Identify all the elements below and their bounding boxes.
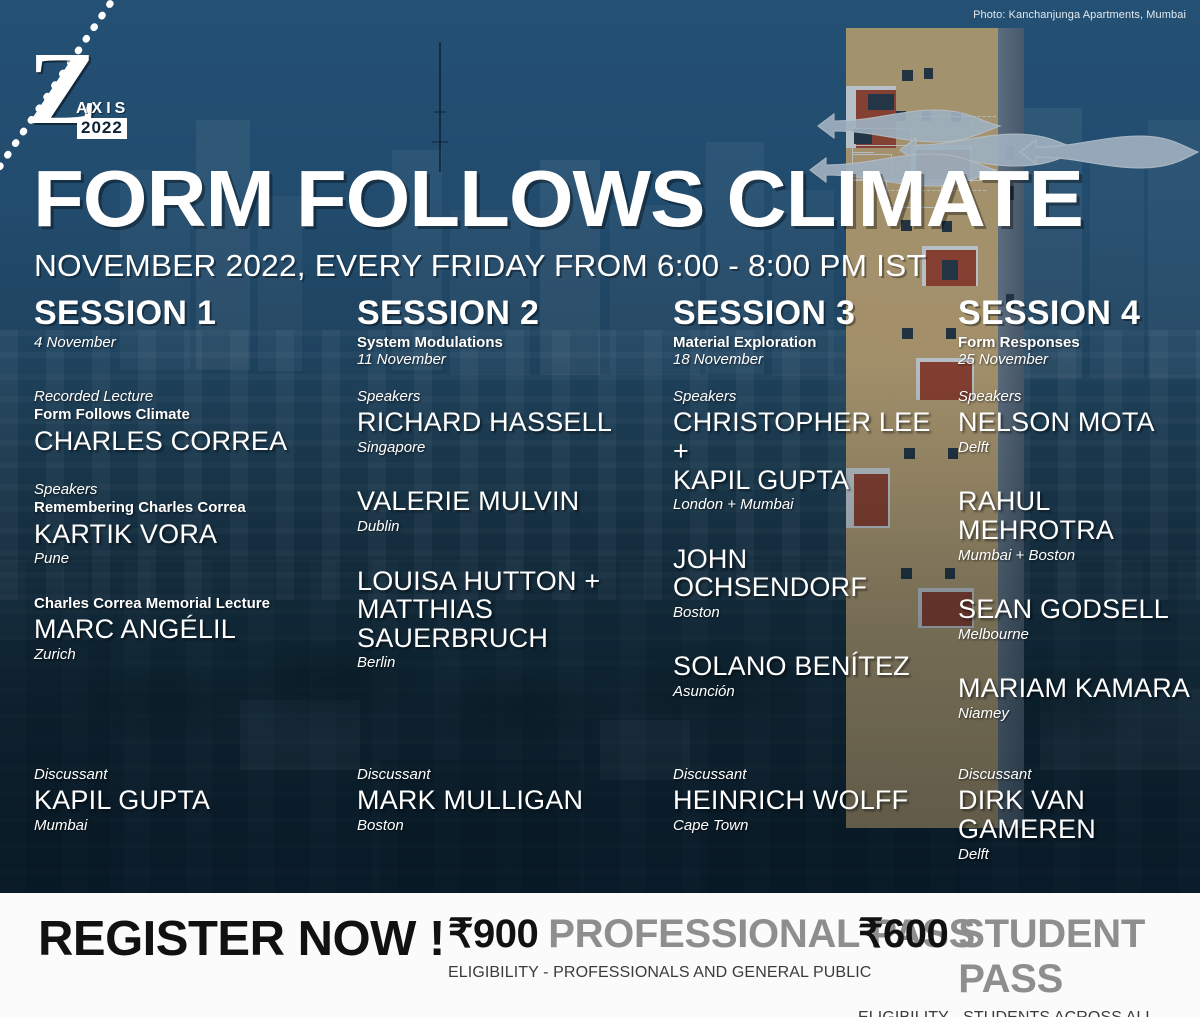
- speaker-entry: SEAN GODSELLMelbourne: [958, 595, 1196, 644]
- speaker-location: London + Mumbai: [673, 495, 943, 515]
- speaker-name: RICHARD HASSELL: [357, 408, 657, 437]
- speaker-name: CHRISTOPHER LEE +: [673, 408, 943, 465]
- group-role-label: Discussant: [673, 766, 943, 784]
- speaker-entry: KARTIK VORAPune: [34, 520, 334, 569]
- session-group: DiscussantMARK MULLIGANBoston: [357, 766, 657, 835]
- speaker-name: MARIAM KAMARA: [958, 674, 1196, 703]
- group-lecture-title: Charles Correa Memorial Lecture: [34, 595, 334, 613]
- speaker-name-secondary: KAPIL GUPTA: [673, 466, 943, 495]
- session-header: SESSION 3Material Exploration18 November: [673, 296, 943, 368]
- speaker-name: SEAN GODSELL: [958, 595, 1196, 624]
- session-theme: Form Responses: [958, 334, 1196, 351]
- speaker-location: Boston: [357, 816, 657, 836]
- session-title: SESSION 2: [357, 296, 657, 330]
- speaker-name: DIRK VAN GAMEREN: [958, 786, 1196, 843]
- session-header: SESSION 14 November: [34, 296, 334, 351]
- speaker-entry: HEINRICH WOLFFCape Town: [673, 786, 943, 835]
- speaker-location: Cape Town: [673, 816, 943, 836]
- group-role-label: Discussant: [357, 766, 657, 784]
- session-group: DiscussantHEINRICH WOLFFCape Town: [673, 766, 943, 835]
- speaker-location: Boston: [673, 603, 943, 623]
- session-header: SESSION 2System Modulations11 November: [357, 296, 657, 368]
- speaker-location: Delft: [958, 438, 1196, 458]
- session-title: SESSION 1: [34, 296, 334, 330]
- group-role-label: Speakers: [673, 388, 943, 406]
- speaker-name-secondary: MATTHIAS SAUERBRUCH: [357, 595, 657, 652]
- speaker-entry: MARK MULLIGANBoston: [357, 786, 657, 835]
- speaker-name: LOUISA HUTTON +: [357, 567, 657, 596]
- session-date: 25 November: [958, 351, 1196, 368]
- session-group: SpeakersCHRISTOPHER LEE +KAPIL GUPTALond…: [673, 388, 943, 701]
- session-group: SpeakersRICHARD HASSELLSingaporeVALERIE …: [357, 388, 657, 673]
- speaker-entry: CHRISTOPHER LEE +KAPIL GUPTALondon + Mum…: [673, 408, 943, 514]
- session-date: 4 November: [34, 334, 334, 351]
- group-role-label: Discussant: [958, 766, 1196, 784]
- speaker-name: VALERIE MULVIN: [357, 487, 657, 516]
- zaxis-logo[interactable]: Z AXIS 2022: [28, 44, 136, 144]
- group-role-label: Speakers: [34, 481, 334, 499]
- student-pass[interactable]: ₹600 STUDENT PASS ELIGIBILITY - STUDENTS…: [858, 911, 1200, 1017]
- photo-credit: Photo: Kanchanjunga Apartments, Mumbai: [973, 9, 1186, 21]
- speaker-name: CHARLES CORREA: [34, 427, 334, 456]
- speaker-entry: RICHARD HASSELLSingapore: [357, 408, 657, 457]
- speaker-location: Delft: [958, 845, 1196, 865]
- session-group: SpeakersNELSON MOTADelftRAHUL MEHROTRAMu…: [958, 388, 1196, 723]
- speaker-name: MARC ANGÉLIL: [34, 615, 334, 644]
- speaker-name: NELSON MOTA: [958, 408, 1196, 437]
- speaker-entry: MARC ANGÉLILZurich: [34, 615, 334, 664]
- session-group: DiscussantDIRK VAN GAMERENDelft: [958, 766, 1196, 864]
- register-now-cta[interactable]: REGISTER NOW !: [38, 911, 445, 967]
- session-group: Charles Correa Memorial LectureMARC ANGÉ…: [34, 595, 334, 664]
- speaker-name: KAPIL GUPTA: [34, 786, 334, 815]
- student-pass-price: ₹600: [858, 911, 948, 957]
- speaker-entry: RAHUL MEHROTRAMumbai + Boston: [958, 487, 1196, 565]
- speaker-location: Pune: [34, 549, 334, 569]
- speaker-entry: JOHN OCHSENDORFBoston: [673, 545, 943, 623]
- page-subtitle: NOVEMBER 2022, EVERY FRIDAY FROM 6:00 - …: [34, 248, 926, 284]
- page-title: FORM FOLLOWS CLIMATE: [33, 162, 1083, 236]
- session-theme: System Modulations: [357, 334, 657, 351]
- registration-bar: REGISTER NOW ! ₹900 PROFESSIONAL PASS EL…: [0, 893, 1200, 1017]
- sessions-grid: SESSION 14 NovemberRecorded LectureForm …: [0, 296, 1200, 856]
- session-theme: Material Exploration: [673, 334, 943, 351]
- session-group: SpeakersRemembering Charles CorreaKARTIK…: [34, 481, 334, 569]
- speaker-location: Mumbai: [34, 816, 334, 836]
- group-role-label: Speakers: [958, 388, 1196, 406]
- speaker-entry: MARIAM KAMARANiamey: [958, 674, 1196, 723]
- group-role-label: Speakers: [357, 388, 657, 406]
- speaker-name: KARTIK VORA: [34, 520, 334, 549]
- speaker-location: Dublin: [357, 517, 657, 537]
- speaker-location: Berlin: [357, 653, 657, 673]
- group-lecture-title: Form Follows Climate: [34, 406, 334, 424]
- professional-pass-price: ₹900: [448, 911, 538, 957]
- speaker-entry: VALERIE MULVINDublin: [357, 487, 657, 536]
- group-role-label: Discussant: [34, 766, 334, 784]
- speaker-location: Niamey: [958, 704, 1196, 724]
- speaker-location: Singapore: [357, 438, 657, 458]
- speaker-location: Asunción: [673, 682, 943, 702]
- student-pass-title: STUDENT PASS: [958, 912, 1200, 1002]
- session-date: 18 November: [673, 351, 943, 368]
- session-header: SESSION 4Form Responses25 November: [958, 296, 1196, 368]
- speaker-entry: KAPIL GUPTAMumbai: [34, 786, 334, 835]
- speaker-entry: LOUISA HUTTON +MATTHIAS SAUERBRUCHBerlin: [357, 567, 657, 673]
- speaker-name: JOHN OCHSENDORF: [673, 545, 943, 602]
- speaker-entry: NELSON MOTADelft: [958, 408, 1196, 457]
- speaker-entry: SOLANO BENÍTEZAsunción: [673, 652, 943, 701]
- event-poster: Z AXIS 2022 Photo: Kanchanjunga Apartmen…: [0, 0, 1200, 1017]
- speaker-name: MARK MULLIGAN: [357, 786, 657, 815]
- student-pass-eligibility-1: ELIGIBILITY - STUDENTS ACROSS ALL DISCIP…: [858, 1008, 1200, 1017]
- logo-axis-word: AXIS: [76, 100, 129, 118]
- speaker-name: SOLANO BENÍTEZ: [673, 652, 943, 681]
- speaker-location: Zurich: [34, 645, 334, 665]
- speaker-name: RAHUL MEHROTRA: [958, 487, 1196, 544]
- speaker-entry: DIRK VAN GAMERENDelft: [958, 786, 1196, 864]
- speaker-location: Mumbai + Boston: [958, 546, 1196, 566]
- session-title: SESSION 3: [673, 296, 943, 330]
- logo-year: 2022: [77, 118, 127, 139]
- group-role-label: Recorded Lecture: [34, 388, 334, 406]
- speaker-entry: CHARLES CORREA: [34, 427, 334, 456]
- session-title: SESSION 4: [958, 296, 1196, 330]
- session-group: Recorded LectureForm Follows ClimateCHAR…: [34, 388, 334, 455]
- speaker-location: Melbourne: [958, 625, 1196, 645]
- session-date: 11 November: [357, 351, 657, 368]
- session-group: DiscussantKAPIL GUPTAMumbai: [34, 766, 334, 835]
- group-lecture-title: Remembering Charles Correa: [34, 499, 334, 517]
- speaker-name: HEINRICH WOLFF: [673, 786, 943, 815]
